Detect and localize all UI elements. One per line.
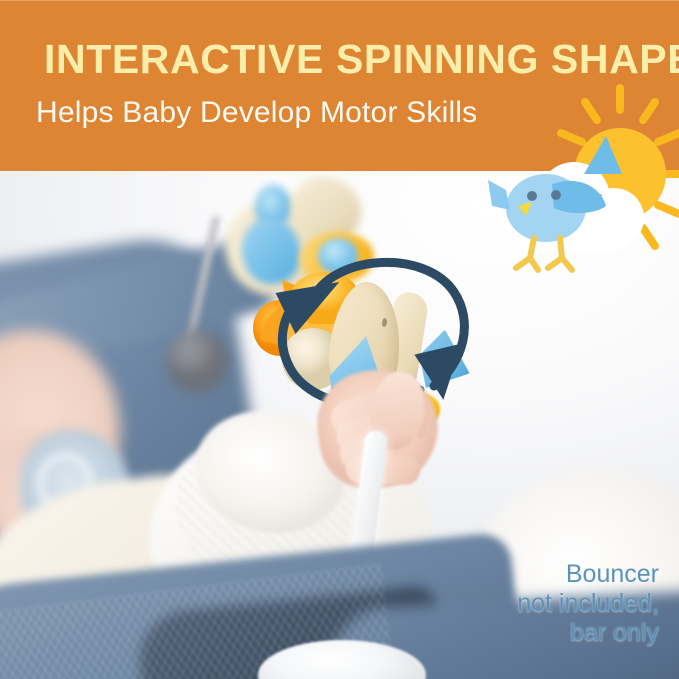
weather-illustration bbox=[486, 78, 679, 290]
disclaimer-line-1: Bouncer bbox=[517, 560, 659, 589]
blurred-toy-knob bbox=[166, 330, 228, 392]
disclaimer-line-2: not included, bbox=[517, 589, 659, 618]
product-image-canvas: INTERACTIVE SPINNING SHAPES Helps Baby D… bbox=[0, 0, 679, 679]
banner-title: INTERACTIVE SPINNING SHAPES bbox=[44, 36, 679, 83]
banner-subtitle: Helps Baby Develop Motor Skills bbox=[36, 96, 477, 130]
disclaimer-line-3: bar only bbox=[517, 618, 659, 647]
disclaimer-note: Bouncer not included, bar only bbox=[517, 560, 659, 647]
